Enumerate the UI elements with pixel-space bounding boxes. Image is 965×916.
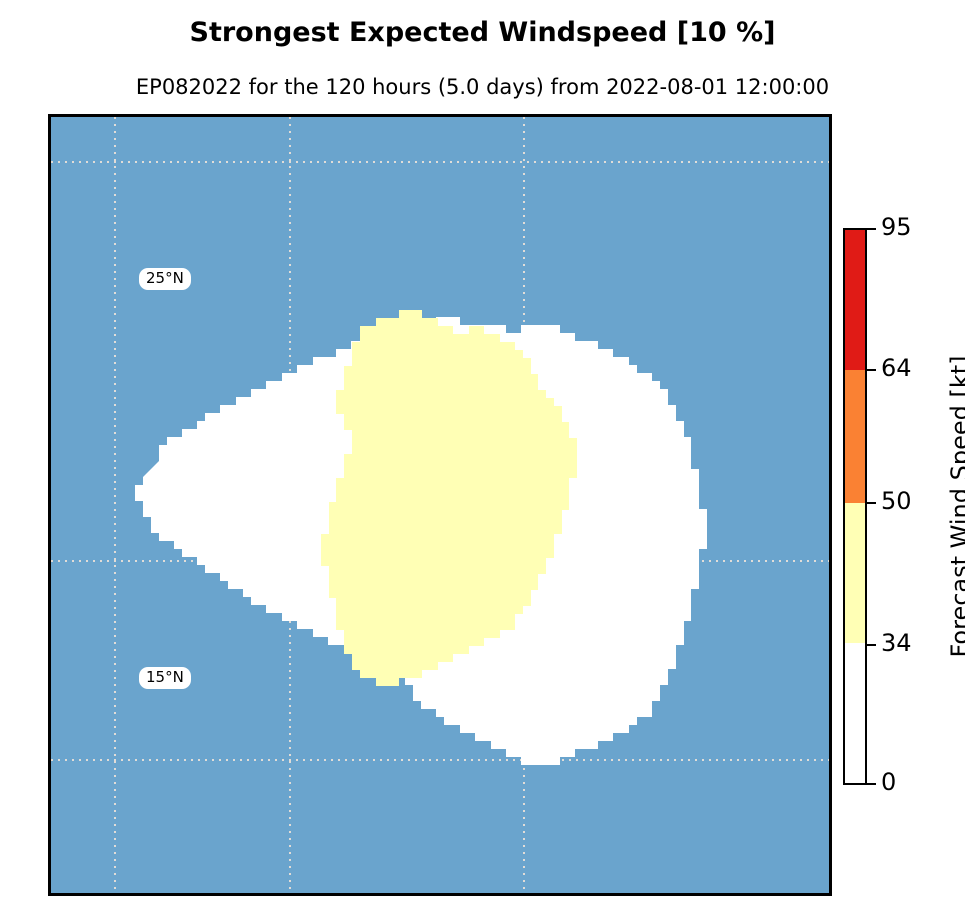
colorbar-tick-0 xyxy=(867,783,876,785)
map-panel[interactable]: 25°N 15°N 140°W 130°W xyxy=(48,114,832,896)
colorbar-tick-95 xyxy=(867,228,876,230)
colorbar-ticklabel-64: 64 xyxy=(881,356,912,380)
colorbar-tick-64 xyxy=(867,369,876,371)
colorbar-ticklabel-0: 0 xyxy=(881,770,896,794)
windspeed-contour-plot xyxy=(51,117,829,893)
colorbar-segment-50-64 xyxy=(845,370,865,503)
page-title: Strongest Expected Windspeed [10 %] xyxy=(0,17,965,48)
colorbar-segment-34-50 xyxy=(845,503,865,643)
colorbar-gradient[interactable] xyxy=(843,228,867,785)
lat-label-15n: 15°N xyxy=(139,667,191,689)
lat-label-25n: 25°N xyxy=(139,268,191,290)
colorbar-segment-64-95 xyxy=(845,230,865,370)
colorbar-axis-label: Forecast Wind Speed [kt] xyxy=(946,228,965,785)
colorbar-ticklabel-34: 34 xyxy=(881,631,912,655)
colorbar-tick-34 xyxy=(867,644,876,646)
colorbar-ticklabel-95: 95 xyxy=(881,215,912,239)
colorbar-segment-0-34 xyxy=(845,643,865,783)
colorbar[interactable]: 95 64 50 34 0 Forecast Wind Speed [kt] xyxy=(843,228,965,788)
colorbar-tick-50 xyxy=(867,502,876,504)
chart-subtitle: EP082022 for the 120 hours (5.0 days) fr… xyxy=(0,75,965,99)
colorbar-ticklabel-50: 50 xyxy=(881,489,912,513)
